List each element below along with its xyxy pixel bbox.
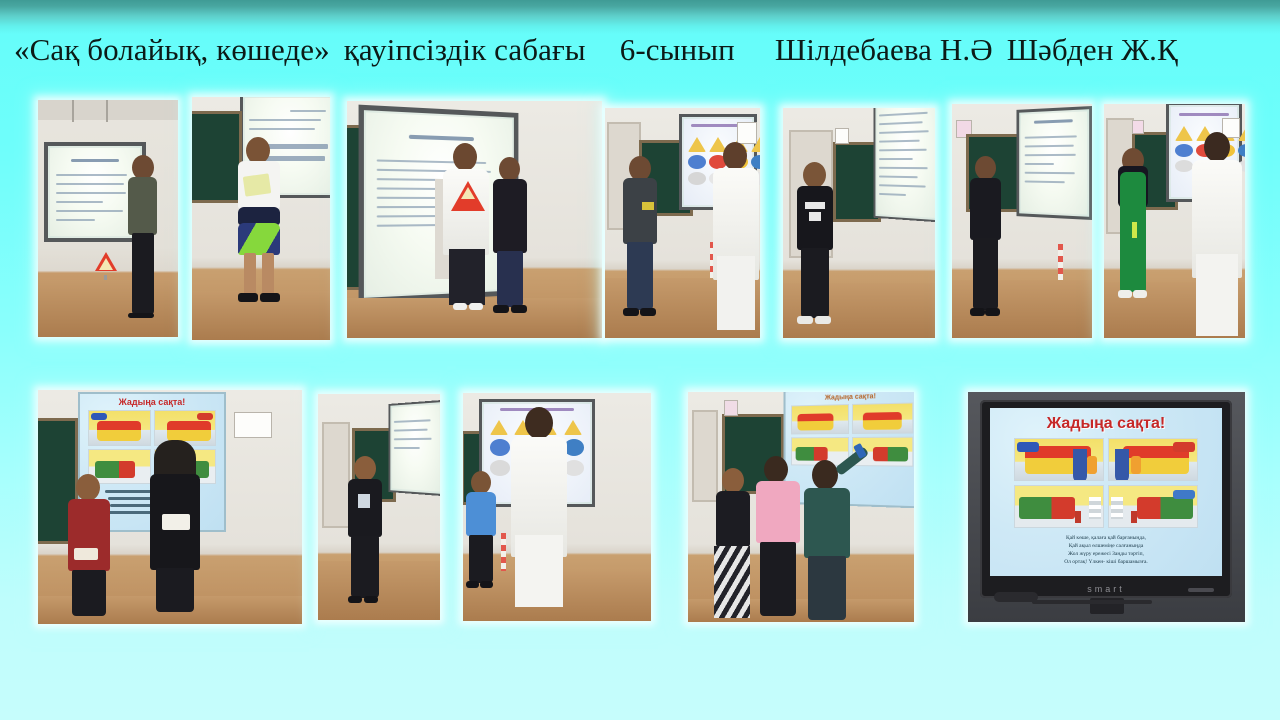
- slide-heading: Жадыңа сақта!: [990, 415, 1222, 433]
- poem-block: Қай көше, қалаға қай барғаныңда, Қай ақы…: [1004, 534, 1208, 566]
- gallery-photo-10[interactable]: [463, 393, 651, 621]
- slide-title-bar: «Сақ болайық, көшеде»қауіпсіздік сабағы6…: [0, 24, 1280, 76]
- gallery-photo-3[interactable]: [347, 101, 602, 338]
- poem-line-3: Жол жүру ережесі Заңды тәртіп,: [1004, 550, 1208, 558]
- poem-line-2: Қай ақыл өлшеміңе салғаныңда: [1004, 542, 1208, 550]
- slide-heading: Жадыңа сақта!: [786, 392, 914, 403]
- gallery-photo-5[interactable]: [783, 108, 935, 338]
- title-teacher-2: Шәбден Ж.Қ: [1007, 32, 1178, 67]
- gallery-photo-2[interactable]: [192, 97, 330, 340]
- title-subject: қауіпсіздік сабағы: [344, 32, 586, 67]
- warning-triangle-icon: [95, 252, 117, 271]
- smart-tv: Жадыңа сақта!: [980, 400, 1232, 598]
- gallery-photo-4[interactable]: [605, 108, 760, 338]
- title-teacher-1: Шілдебаева Н.Ә: [775, 32, 993, 67]
- slide-canvas: «Сақ болайық, көшеде»қауіпсіздік сабағы6…: [0, 0, 1280, 720]
- poem-line-4: Ол ортақ! Үлкен- кіші баршамызға.: [1004, 558, 1208, 566]
- slide-heading: Жадыңа сақта!: [80, 397, 224, 407]
- gallery-photo-7[interactable]: [1104, 104, 1245, 338]
- gallery-photo-11[interactable]: Жадыңа сақта!: [688, 392, 914, 622]
- gallery-photo-12[interactable]: Жадыңа сақта!: [968, 392, 1245, 622]
- gallery-photo-1[interactable]: [38, 100, 178, 337]
- title-grade: 6-сынып: [620, 32, 735, 67]
- gallery-photo-8[interactable]: Жадыңа сақта!: [38, 390, 302, 624]
- poem-line-1: Қай көше, қалаға қай барғаныңда,: [1004, 534, 1208, 542]
- tv-screen: Жадыңа сақта!: [990, 408, 1222, 576]
- title-lesson-name: «Сақ болайық, көшеде»: [14, 32, 330, 67]
- gallery-photo-9[interactable]: [318, 394, 440, 620]
- gallery-photo-6[interactable]: [952, 104, 1092, 338]
- warning-triangle-icon: [451, 181, 485, 211]
- page-title: «Сақ болайық, көшеде»қауіпсіздік сабағы6…: [0, 32, 1178, 68]
